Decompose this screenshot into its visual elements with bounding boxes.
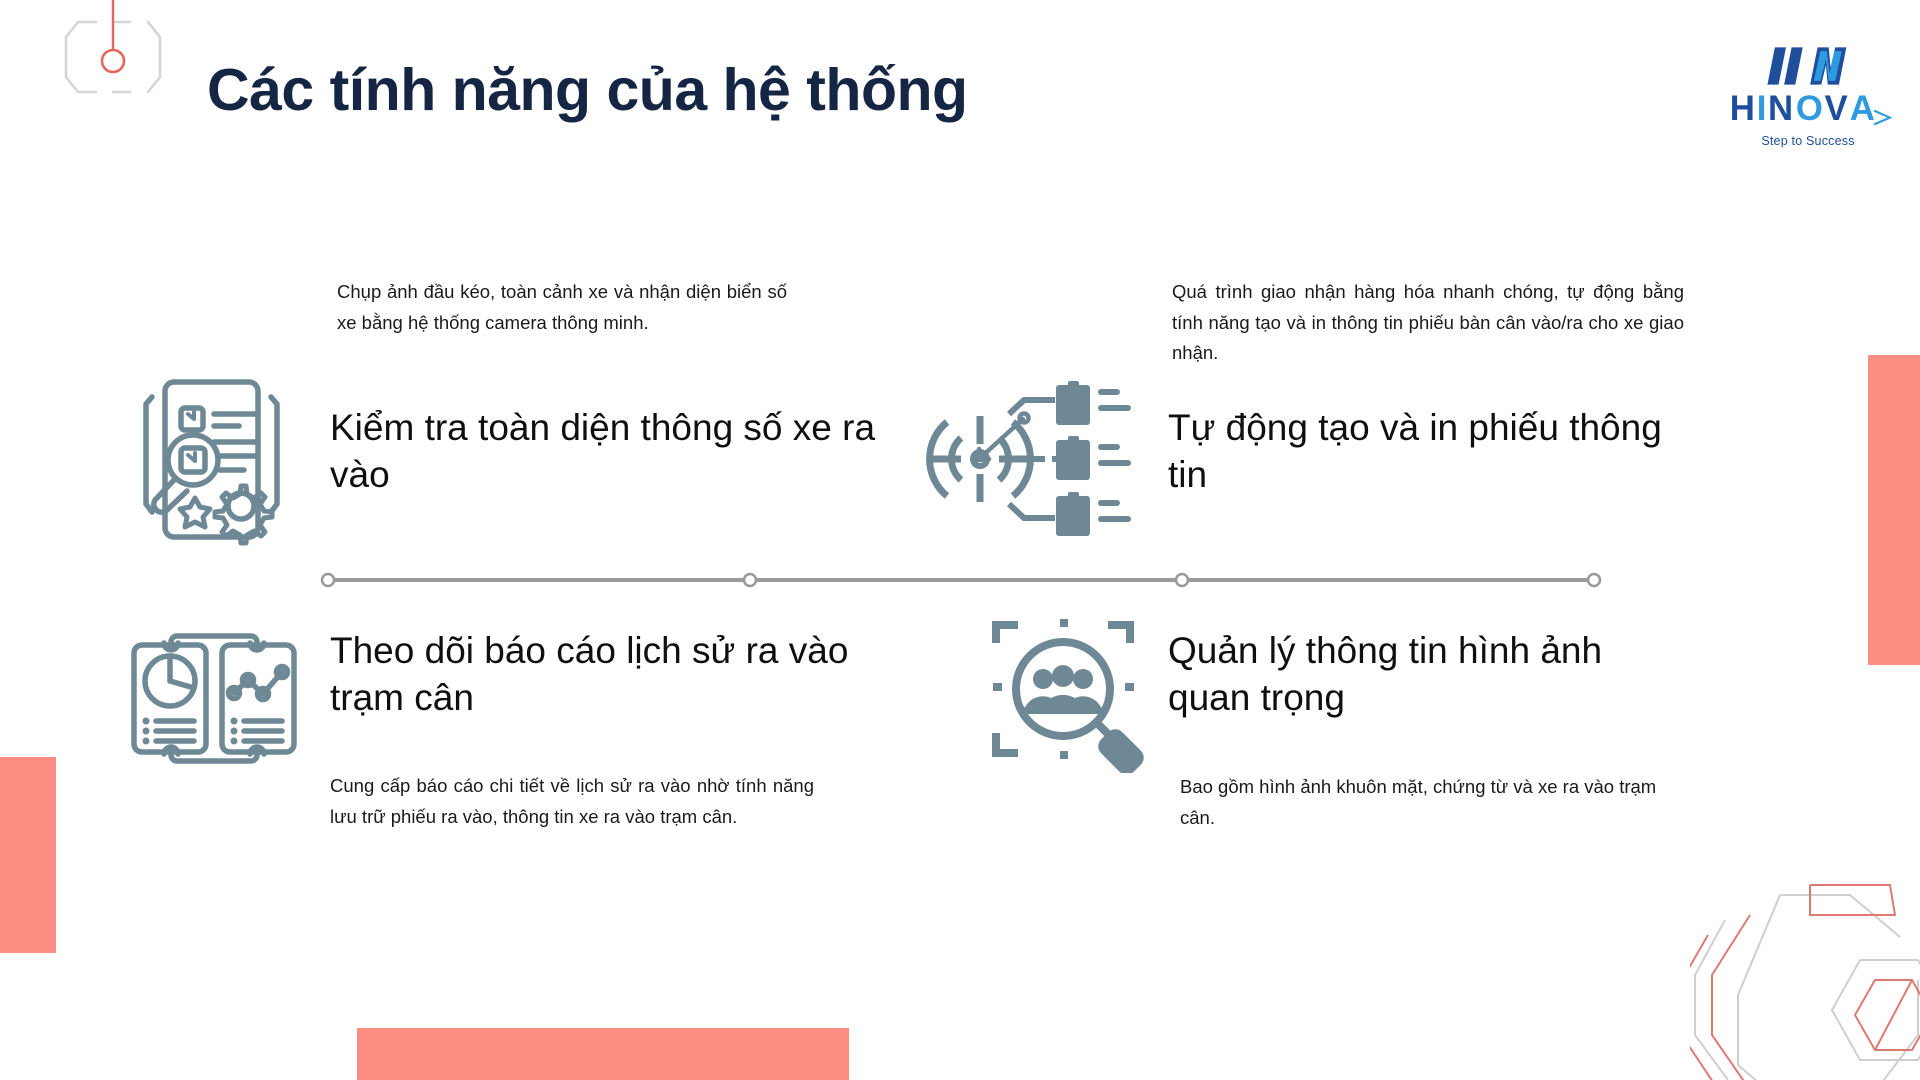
timeline-divider xyxy=(320,572,1602,588)
feature-heading-4: Quản lý thông tin hình ảnh quan trọng xyxy=(1168,628,1668,721)
timeline-node xyxy=(1588,574,1600,586)
feature-description-1: Chụp ảnh đầu kéo, toàn cảnh xe và nhận d… xyxy=(337,277,787,338)
document-inspection-icon xyxy=(124,372,299,547)
hexagon-ornament-group-icon xyxy=(1690,875,1920,1080)
feature-description-3: Cung cấp báo cáo chi tiết về lịch sử ra … xyxy=(330,771,814,832)
decorative-rect-right xyxy=(1868,355,1920,665)
feature-heading-2: Tự động tạo và in phiếu thông tin xyxy=(1168,405,1708,498)
hinova-mark-icon xyxy=(1734,40,1883,92)
people-magnifier-icon xyxy=(988,613,1156,773)
svg-text:N: N xyxy=(1768,90,1793,128)
feature-heading-3: Theo dõi báo cáo lịch sử ra vào trạm cân xyxy=(330,628,910,721)
svg-text:H: H xyxy=(1730,90,1755,128)
timeline-node xyxy=(744,574,756,586)
hinova-logo: H I N O V A Step to Success xyxy=(1728,40,1888,160)
target-clipboard-icon xyxy=(925,372,1135,547)
decorative-rect-bottom xyxy=(357,1028,849,1080)
hinova-wordmark-icon: H I N O V A xyxy=(1728,88,1902,128)
feature-description-4: Bao gồm hình ảnh khuôn mặt, chứng từ và … xyxy=(1180,772,1660,833)
hexagon-pin-icon xyxy=(48,0,178,122)
timeline-node xyxy=(1176,574,1188,586)
page-title: Các tính năng của hệ thống xyxy=(207,56,968,124)
svg-text:O: O xyxy=(1796,90,1823,128)
feature-description-2: Quá trình giao nhận hàng hóa nhanh chóng… xyxy=(1172,277,1684,369)
svg-text:V: V xyxy=(1825,90,1848,128)
svg-text:A: A xyxy=(1850,90,1875,128)
svg-text:I: I xyxy=(1757,90,1767,128)
report-charts-icon xyxy=(124,618,304,776)
logo-tagline: Step to Success xyxy=(1728,134,1888,148)
feature-heading-1: Kiểm tra toàn diện thông số xe ra vào xyxy=(330,405,900,498)
timeline-node xyxy=(322,574,334,586)
decorative-rect-left xyxy=(0,757,56,953)
slide-root: H I N O V A Step to Success Các tính năn… xyxy=(0,0,1920,1080)
